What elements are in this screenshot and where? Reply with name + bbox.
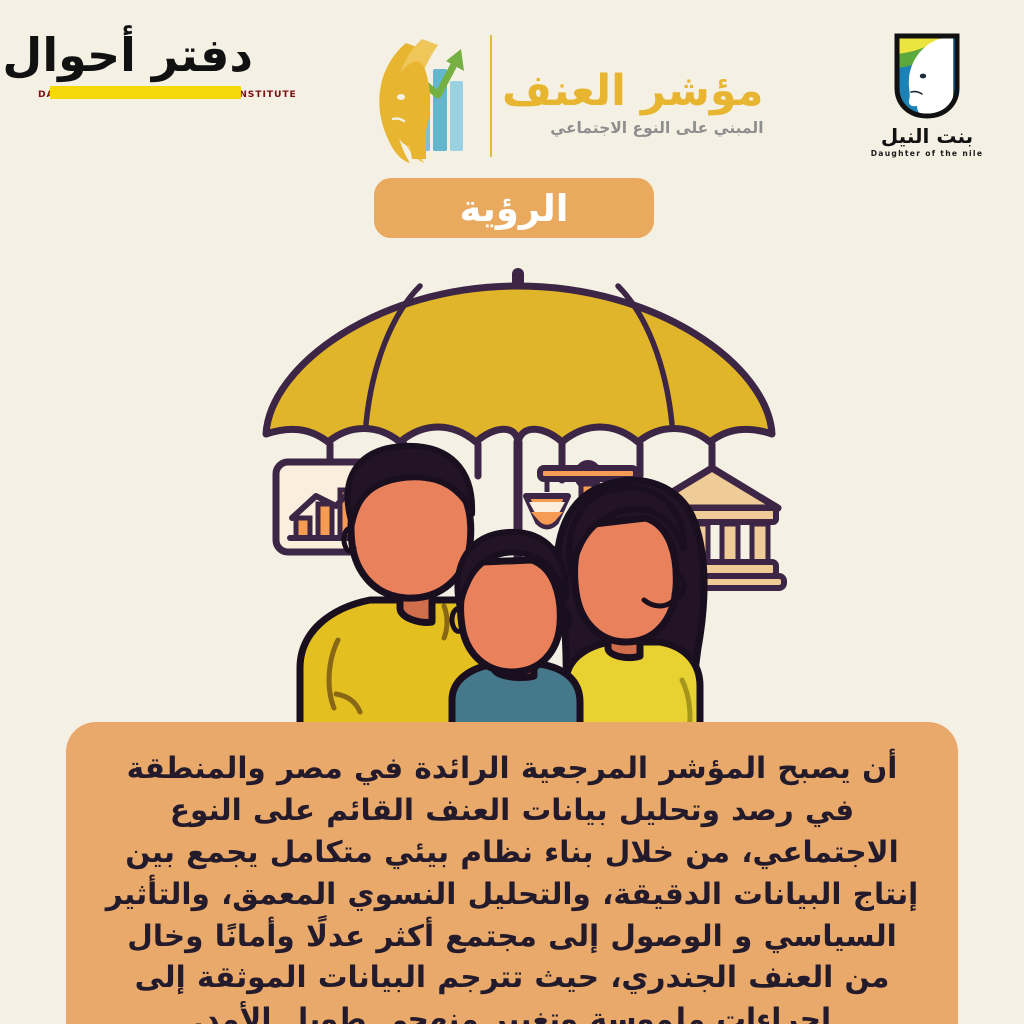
logo-highlight-bar bbox=[50, 86, 241, 99]
violence-index-subtitle: المبني على النوع الاجتماعي bbox=[502, 121, 764, 137]
header-logos-bar: دفتر أحوال DAFTAR AHWAL DATA RESEARCH IN… bbox=[0, 0, 1024, 170]
violence-index-logo: مؤشر العنف المبني على النوع الاجتماعي bbox=[360, 26, 660, 166]
bint-el-nil-arabic-name: بنت النيل bbox=[862, 126, 992, 146]
vision-statement-text: أن يصبح المؤشر المرجعية الرائدة في مصر و… bbox=[100, 748, 924, 1024]
daftar-ahwal-logo: دفتر أحوال DAFTAR AHWAL DATA RESEARCH IN… bbox=[38, 30, 253, 142]
page-title-banner: الرؤية bbox=[374, 178, 654, 238]
bint-el-nil-logo: بنت النيل Daughter of the nile bbox=[862, 32, 992, 164]
family-under-umbrella-illustration bbox=[0, 256, 1024, 736]
bint-el-nil-english-name: Daughter of the nile bbox=[862, 149, 992, 158]
poster-root: دفتر أحوال DAFTAR AHWAL DATA RESEARCH IN… bbox=[0, 0, 1024, 1024]
bint-el-nil-crest-icon bbox=[891, 32, 963, 120]
child-figure bbox=[452, 532, 580, 736]
page-title: الرؤية bbox=[460, 190, 569, 227]
logo-divider bbox=[490, 35, 492, 157]
vision-statement-panel: أن يصبح المؤشر المرجعية الرائدة في مصر و… bbox=[66, 722, 958, 1024]
daftar-ahwal-arabic-name: دفتر أحوال bbox=[38, 30, 253, 82]
violence-index-mark-icon bbox=[360, 27, 478, 165]
violence-index-wordmark: مؤشر العنف المبني على النوع الاجتماعي bbox=[502, 56, 764, 137]
violence-index-title: مؤشر العنف bbox=[502, 70, 764, 113]
